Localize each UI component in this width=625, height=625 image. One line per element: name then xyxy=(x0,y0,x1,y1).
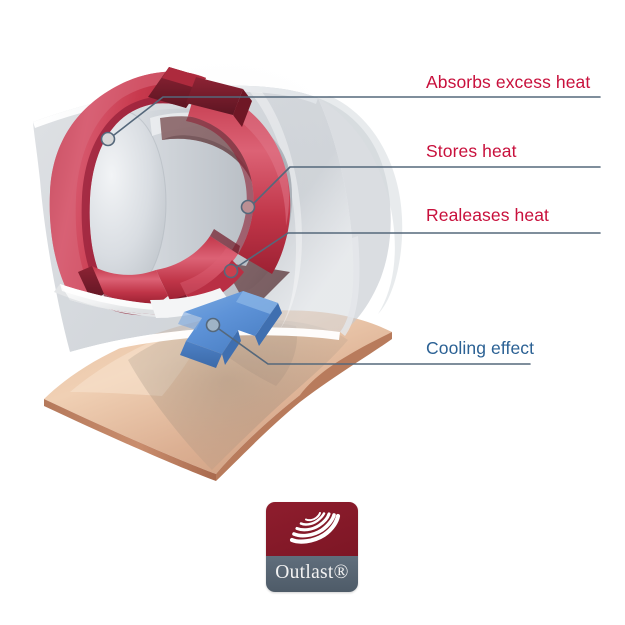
callout-label-releases: Realeases heat xyxy=(426,207,549,225)
callout-label-stores: Stores heat xyxy=(426,143,517,161)
outlast-swoosh-icon xyxy=(283,511,341,547)
outlast-logo: Outlast® xyxy=(266,502,358,592)
logo-wordmark: Outlast® xyxy=(275,563,349,583)
callout-label-absorbs: Absorbs excess heat xyxy=(426,74,590,92)
callout-label-cooling: Cooling effect xyxy=(426,340,534,358)
logo-bottom-panel: Outlast® xyxy=(266,556,358,592)
logo-top-panel xyxy=(266,502,358,556)
diagram-canvas: Absorbs excess heat Stores heat Realease… xyxy=(0,0,625,625)
